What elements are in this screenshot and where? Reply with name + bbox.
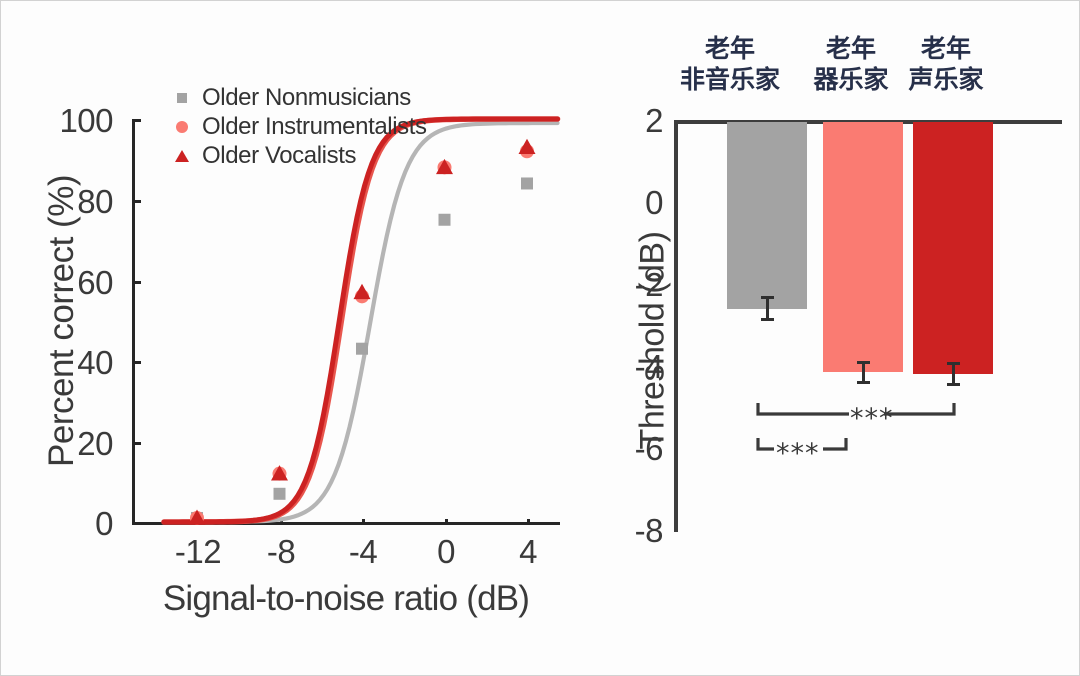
legend-item-nonmusicians: Older Nonmusicians <box>171 83 491 112</box>
threshold-panel: Threshold (dB) 2 0 -2 -4 -6 -8 老年 非音乐家 老… <box>601 1 1080 676</box>
legend-square-icon <box>171 93 193 103</box>
legend-label-instrumentalists: Older Instrumentalists <box>202 113 427 141</box>
psychometric-legend: Older Nonmusicians Older Instrumentalist… <box>171 83 491 170</box>
fit-curve-2 <box>164 119 558 522</box>
psychometric-panel: Percent correct (%) Signal-to-noise rati… <box>1 1 601 676</box>
legend-circle-icon <box>171 121 193 133</box>
legend-label-vocalists: Older Vocalists <box>202 142 356 170</box>
legend-item-instrumentalists: Older Instrumentalists <box>171 112 491 141</box>
sig-stars-inner: *** <box>776 440 820 467</box>
fit-curve-0 <box>164 123 558 522</box>
fit-curve-1 <box>164 119 558 522</box>
datapoint-nonmusicians-1 <box>274 488 286 500</box>
legend-label-nonmusicians: Older Nonmusicians <box>202 84 411 112</box>
sig-stars-outer: *** <box>850 405 894 432</box>
figure-root: Percent correct (%) Signal-to-noise rati… <box>0 0 1080 676</box>
significance-brackets <box>601 1 1080 676</box>
legend-item-vocalists: Older Vocalists <box>171 141 491 170</box>
datapoint-nonmusicians-2 <box>356 343 368 355</box>
datapoint-nonmusicians-3 <box>439 214 451 226</box>
datapoint-vocalists-2 <box>354 284 371 299</box>
datapoint-nonmusicians-4 <box>521 177 533 189</box>
datapoint-vocalists-4 <box>519 139 536 154</box>
legend-triangle-icon <box>171 150 193 162</box>
